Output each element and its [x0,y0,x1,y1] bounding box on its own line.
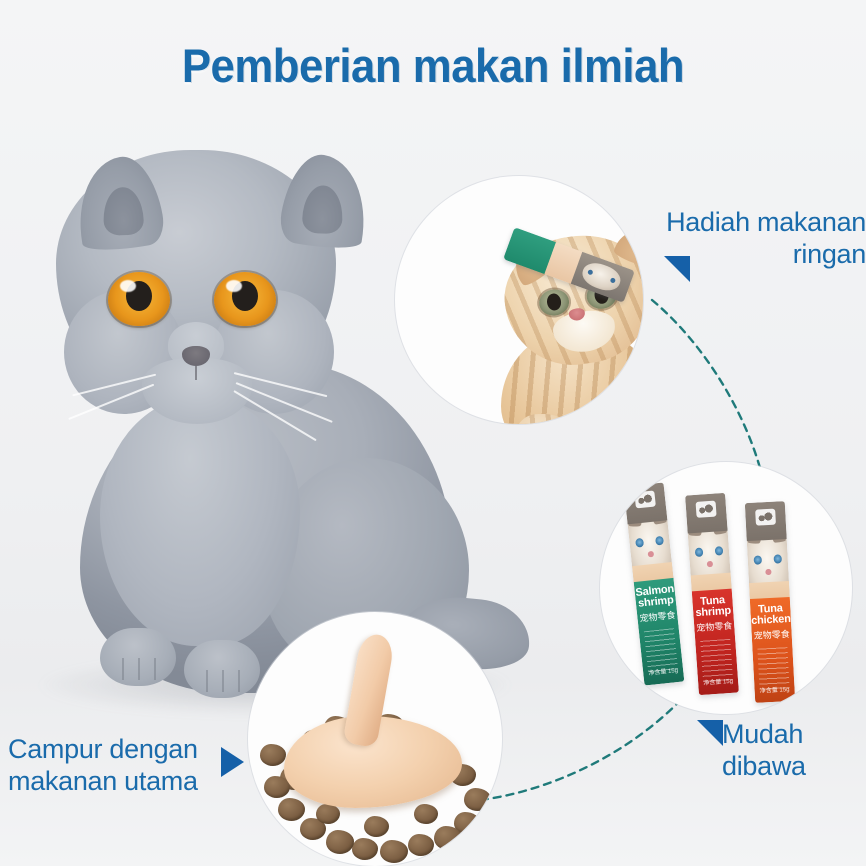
triangle-right-icon-mix [221,747,244,777]
cat-silhouette-icon [634,490,656,508]
label-mix-with-food: Campur dengan makanan utama [8,733,228,797]
cat-left-ear [69,151,168,256]
stick-net-weight: 净含量 15g [754,684,794,695]
stick-flavor-band: Tuna shrimp 宠物零食 净含量 15g [692,589,739,696]
kitten-left-eye [537,288,570,318]
product-stick-tuna-chicken: Tuna chicken 宠物零食 净含量 15g [745,501,795,703]
stick-flavor-label: Tuna shrimp [692,595,733,620]
cat-left-eye [108,272,170,326]
kitten-right-ear [612,224,643,268]
food-scene [248,612,502,866]
stick-top-seal [685,493,728,534]
stick-flavor-band: Tuna chicken 宠物零食 净含量 15g [750,597,795,703]
stick-flavor-label-cn: 宠物零食 [637,610,678,624]
callout-mix-with-food-image [248,612,502,866]
callout-snack-reward-image [395,176,643,424]
stick-top-seal [745,501,787,541]
stick-top-seal [624,482,668,524]
cat-chest [100,396,300,646]
stick-flavor-label: Tuna chicken [750,603,791,627]
cat-head [56,150,336,408]
stick-net-weight: 净含量 15g [698,675,739,687]
stick-flavor-label-cn: 宠物零食 [751,629,791,641]
stick-flavor-label: Salmon shrimp [634,584,676,610]
stick-flavor-label-cn: 宠物零食 [694,621,735,634]
cat-right-ear [277,149,376,254]
cat-silhouette-icon [696,501,717,518]
callout-easy-to-carry-image: Salmon shrimp 宠物零食 净含量 15g Tuna shrim [600,462,852,714]
cat-front-left-paw [100,628,176,686]
product-infographic-poster: Pemberian makan ilmiah [0,0,866,866]
page-title: Pemberian makan ilmiah [30,42,835,89]
cat-mouth-line [195,366,197,380]
cat-silhouette-icon [755,509,776,526]
cat-right-eye [214,272,276,326]
label-easy-to-carry: Mudah dibawa [722,718,866,782]
product-stick-tuna-shrimp: Tuna shrimp 宠物零食 净含量 15g [685,493,739,695]
label-snack-reward: Hadiah makanan ringan [640,206,866,270]
kitten-illustration [487,228,643,424]
product-stick-salmon-shrimp: Salmon shrimp 宠物零食 净含量 15g [624,482,685,685]
triangle-corner-icon-carry [697,720,723,746]
product-stick-group: Salmon shrimp 宠物零食 净含量 15g Tuna shrim [630,476,825,701]
stick-flavor-band: Salmon shrimp 宠物零食 净含量 15g [634,578,685,686]
